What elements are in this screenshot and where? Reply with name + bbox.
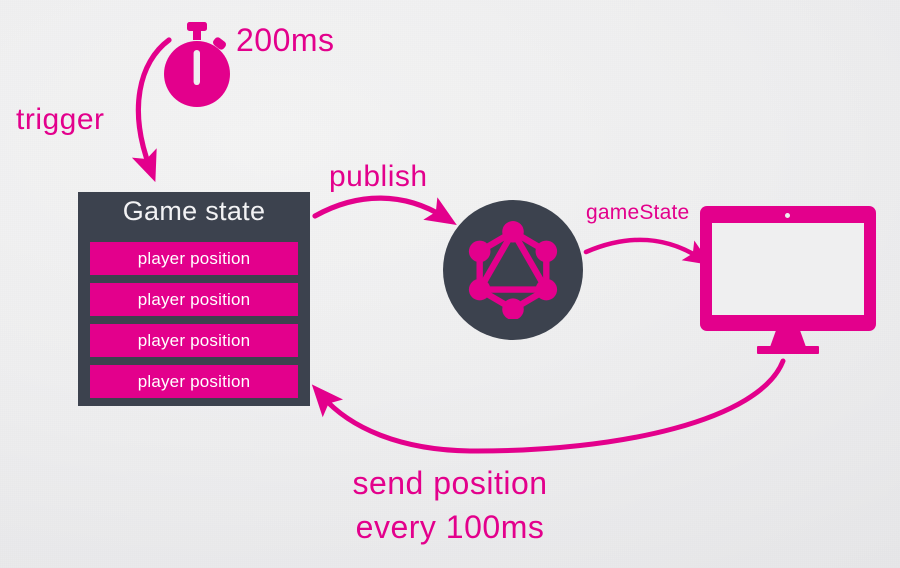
send-position-line-2: every 100ms <box>0 505 900 549</box>
list-item[interactable]: player position <box>90 283 298 316</box>
game-state-title: Game state <box>78 196 310 227</box>
webcam-icon <box>785 213 790 218</box>
game-state-box[interactable]: Game state player position player positi… <box>78 192 310 406</box>
send-position-line-1: send position <box>0 461 900 505</box>
monitor-icon[interactable] <box>700 206 876 354</box>
diagram-canvas: 200ms trigger Game state player position… <box>0 0 900 568</box>
monitor-neck <box>770 331 806 347</box>
send-position-arrow <box>322 361 783 451</box>
publish-edge-label: publish <box>329 160 428 194</box>
trigger-edge-label: trigger <box>16 103 105 137</box>
send-position-edge-label: send position every 100ms <box>0 461 900 549</box>
monitor-base <box>757 346 819 354</box>
monitor-screen <box>712 223 864 315</box>
list-item[interactable]: player position <box>90 324 298 357</box>
list-item[interactable]: player position <box>90 365 298 398</box>
gamestate-arrow <box>586 240 700 258</box>
gamestate-edge-label: gameState <box>586 201 689 225</box>
graphql-node[interactable] <box>443 200 583 340</box>
timer-label: 200ms <box>236 22 335 59</box>
player-position-list: player position player position player p… <box>90 242 298 398</box>
graphql-logo-icon <box>464 221 562 319</box>
stopwatch-icon <box>160 22 238 108</box>
publish-arrow <box>315 198 444 217</box>
list-item[interactable]: player position <box>90 242 298 275</box>
monitor-bezel <box>700 206 876 331</box>
